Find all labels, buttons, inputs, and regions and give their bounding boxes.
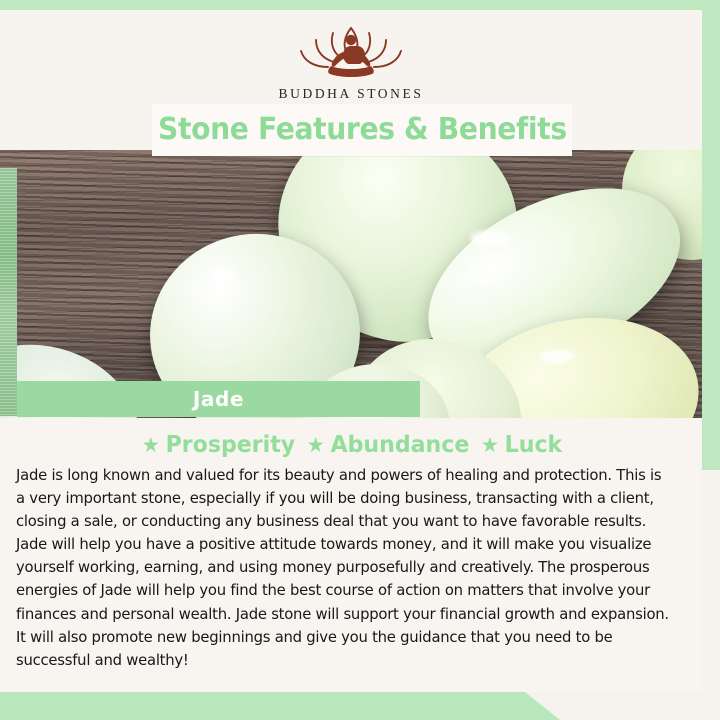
- page-title: Stone Features & Benefits: [158, 115, 567, 145]
- stone-highlight: [470, 230, 510, 246]
- star-icon: ★: [142, 435, 160, 456]
- benefit-label: Abundance: [331, 432, 470, 458]
- stone-photo: [0, 150, 702, 418]
- top-green-border: [0, 0, 720, 10]
- stone-name-banner: Jade: [17, 381, 420, 417]
- benefit-label: Luck: [505, 432, 563, 458]
- content-section: ★ Prosperity ★ Abundance ★ Luck Jade is …: [0, 418, 702, 692]
- bottom-green-banner: [0, 688, 560, 720]
- title-panel: Stone Features & Benefits: [152, 104, 572, 156]
- star-icon: ★: [307, 435, 325, 456]
- stone-name-label: Jade: [193, 387, 244, 411]
- star-icon: ★: [481, 435, 499, 456]
- lotus-meditation-icon: [285, 24, 417, 82]
- stone-highlight: [210, 268, 236, 282]
- left-green-strip: [0, 168, 17, 416]
- benefit-item: ★ Abundance: [307, 432, 470, 458]
- benefits-row: ★ Prosperity ★ Abundance ★ Luck: [29, 432, 674, 458]
- benefit-item: ★ Luck: [481, 432, 562, 458]
- right-green-border: [702, 0, 720, 470]
- stone-highlight: [540, 350, 574, 363]
- brand-logo: BUDDHA STONES: [0, 24, 702, 102]
- benefit-label: Prosperity: [166, 432, 296, 458]
- description-text: Jade is long known and valued for its be…: [16, 464, 671, 672]
- benefit-item: ★ Prosperity: [142, 432, 295, 458]
- brand-name: BUDDHA STONES: [279, 86, 424, 102]
